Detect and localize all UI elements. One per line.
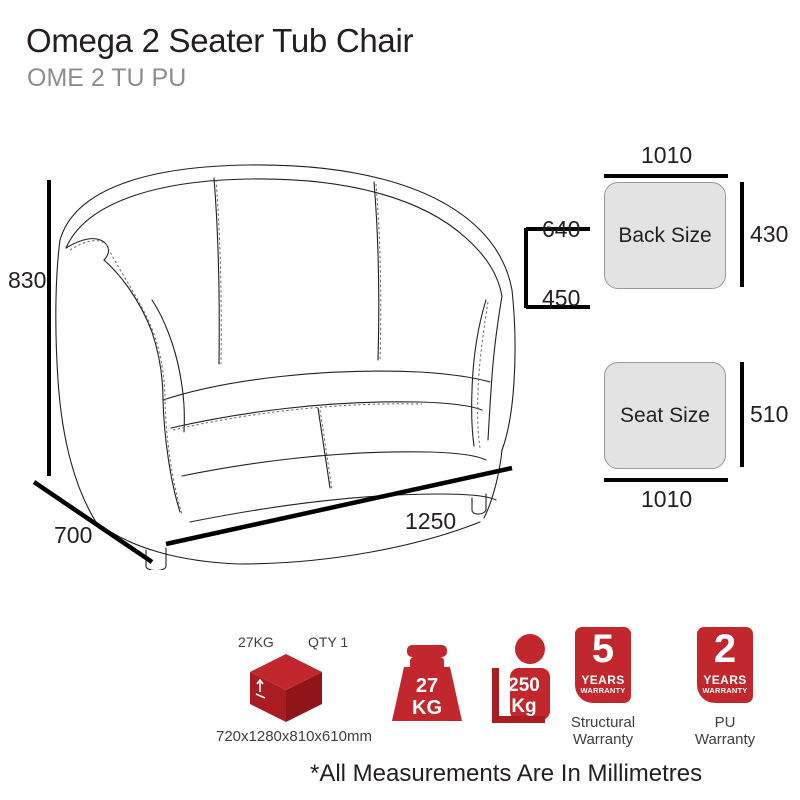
load-capacity-unit: Kg (496, 697, 552, 717)
pu-warranty-word: WARRANTY (697, 686, 753, 695)
dimension-line-height-830 (47, 180, 51, 476)
pu-warranty-caption-line2: Warranty (675, 731, 775, 748)
back-size-label: Back Size (618, 224, 711, 248)
back-size-height-label: 430 (750, 221, 788, 248)
dimension-label-seat-height: 450 (542, 285, 580, 312)
seat-size-height-rule (740, 362, 744, 467)
load-capacity-value: 250 (496, 676, 552, 696)
seat-size-width-label: 1010 (641, 486, 692, 513)
structural-warranty-caption-line1: Structural (553, 714, 653, 731)
structural-warranty-badge: 5 YEARS WARRANTY (575, 627, 631, 703)
structural-warranty-years-word: YEARS (575, 673, 631, 687)
carton-weight-label: 27KG (238, 634, 274, 650)
back-size-box: Back Size (604, 182, 726, 289)
seat-size-height-label: 510 (750, 401, 788, 428)
pu-warranty-years-word: YEARS (697, 673, 753, 687)
dimension-line-width-1250 (160, 460, 520, 550)
dimension-label-back-height: 640 (542, 216, 580, 243)
pu-warranty-caption: PU Warranty (675, 714, 775, 749)
structural-warranty-caption-line2: Warranty (553, 731, 653, 748)
back-size-width-rule (604, 174, 728, 178)
structural-warranty-caption: Structural Warranty (553, 714, 653, 749)
dimension-line-depth-700 (30, 478, 160, 570)
dimension-label-width: 1250 (405, 508, 456, 535)
pu-warranty-caption-line1: PU (675, 714, 775, 731)
measurement-footnote: *All Measurements Are In Millimetres (310, 760, 702, 788)
pu-warranty-badge: 2 YEARS WARRANTY (697, 627, 753, 703)
carton-box-icon (248, 652, 324, 724)
product-code: OME 2 TU PU (27, 64, 186, 93)
carton-dimensions-caption: 720x1280x810x610mm (216, 728, 366, 745)
weight-unit: KG (388, 698, 466, 719)
weight-value: 27 (388, 676, 466, 697)
structural-warranty-years: 5 (575, 629, 631, 669)
carton-qty-label: QTY 1 (308, 634, 348, 650)
structural-warranty-word: WARRANTY (575, 686, 631, 695)
seat-size-label: Seat Size (620, 404, 710, 428)
pu-warranty-years: 2 (697, 629, 753, 669)
seat-size-width-rule (604, 478, 728, 482)
seat-size-box: Seat Size (604, 362, 726, 469)
back-size-width-label: 1010 (641, 142, 692, 169)
dimension-label-height: 830 (8, 267, 46, 294)
page-title: Omega 2 Seater Tub Chair (26, 22, 413, 60)
dimension-label-depth: 700 (54, 522, 92, 549)
back-size-height-rule (740, 182, 744, 287)
